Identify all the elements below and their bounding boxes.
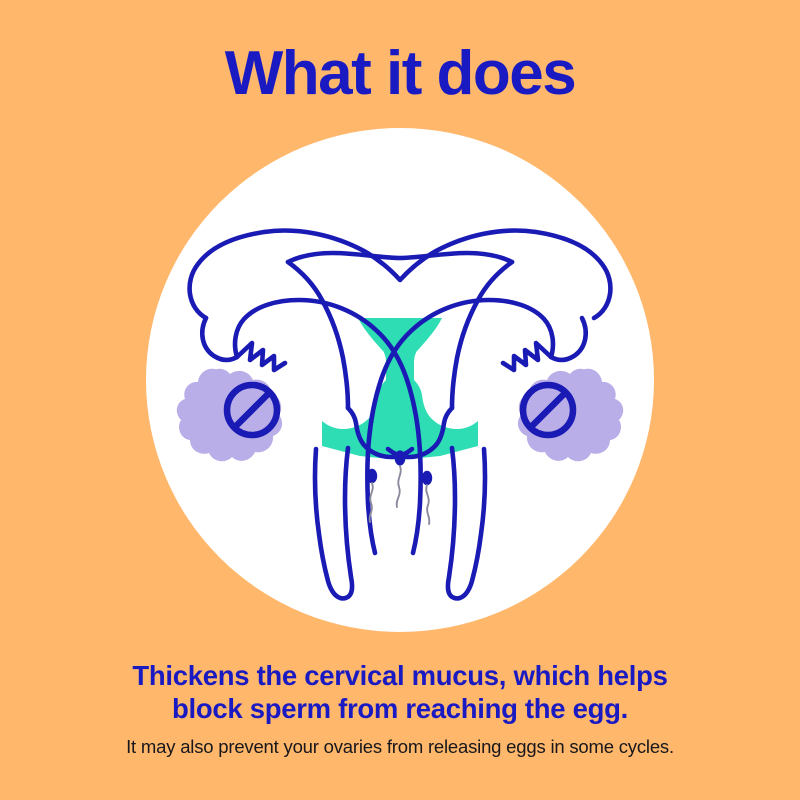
right-fimbria-outer <box>551 318 586 360</box>
caption-primary-line-1: Thickens the cervical mucus, which helps <box>50 659 750 692</box>
caption-primary-line-2: block sperm from reaching the egg. <box>50 692 750 725</box>
sperm-head <box>395 450 406 465</box>
uterine-cavity-top <box>288 253 512 262</box>
vagina-left <box>315 448 352 598</box>
outer-tube-contour <box>190 231 611 318</box>
page-title: What it does <box>0 38 800 110</box>
sperm-right <box>422 471 432 524</box>
uterus-diagram-svg <box>146 128 654 632</box>
vagina-right <box>448 448 485 598</box>
sperm-center <box>395 450 406 507</box>
uterine-cavity-left <box>288 262 348 408</box>
uterine-cavity-right <box>452 262 512 408</box>
sperm-head <box>422 471 432 485</box>
caption-primary: Thickens the cervical mucus, which helps… <box>50 659 750 725</box>
sperm-tail <box>397 466 401 507</box>
left-fimbria-outer <box>202 318 237 360</box>
illustration-container <box>146 128 654 632</box>
sperm-tail <box>426 485 429 524</box>
right-fimbriae-fingers <box>503 343 551 370</box>
infographic-card: What it does <box>0 0 800 800</box>
caption-secondary: It may also prevent your ovaries from re… <box>40 735 760 759</box>
sperm-head <box>367 469 377 483</box>
left-fimbriae-fingers <box>237 343 285 370</box>
